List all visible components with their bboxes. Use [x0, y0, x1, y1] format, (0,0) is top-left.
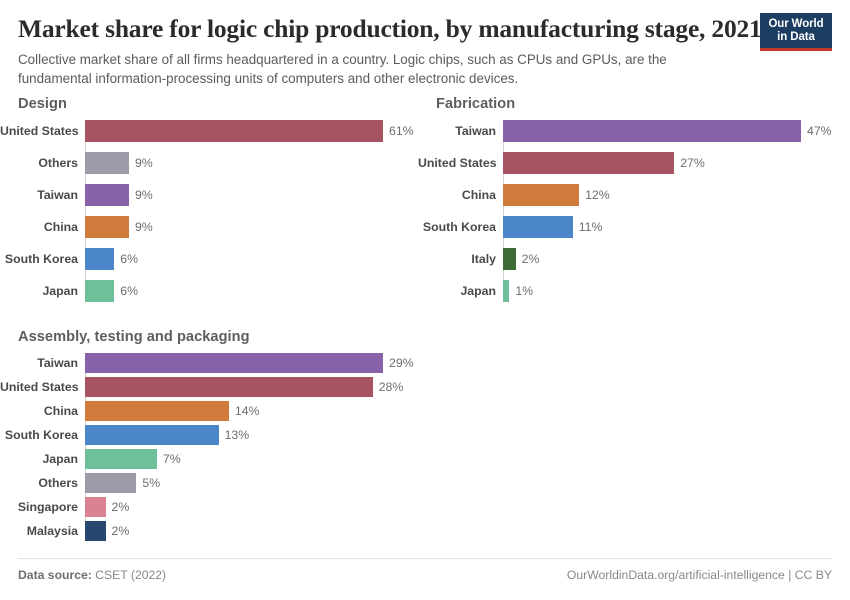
y-axis-line [503, 120, 504, 302]
bar-row: Japan6% [0, 280, 425, 302]
panel-title-assembly-testing-packaging: Assembly, testing and packaging [18, 329, 425, 345]
bar-row-label: Others [0, 476, 85, 490]
bar-row-label: United States [0, 380, 85, 394]
bar[interactable] [85, 248, 114, 270]
bar-value-label: 61% [383, 124, 414, 138]
bar-row-label: South Korea [0, 252, 85, 266]
bar-row-label: South Korea [418, 220, 503, 234]
bar-row: United States28% [0, 377, 425, 397]
bar[interactable] [503, 248, 516, 270]
bar-row: United States27% [418, 152, 843, 174]
bar-value-label: 27% [674, 156, 705, 170]
bar[interactable] [503, 216, 573, 238]
data-source-label: Data source: [18, 568, 92, 582]
bar-row: China9% [0, 216, 425, 238]
bar-value-label: 11% [573, 220, 603, 234]
bar-value-label: 13% [219, 428, 250, 442]
bar[interactable] [85, 280, 114, 302]
bar-value-label: 5% [136, 476, 160, 490]
bar-value-label: 28% [373, 380, 404, 394]
bar-row: South Korea6% [0, 248, 425, 270]
bar-row: South Korea13% [0, 425, 425, 445]
logo-line-1: Our World [768, 18, 823, 30]
bar-row: Taiwan47% [418, 120, 843, 142]
bar-row: Singapore2% [0, 497, 425, 517]
chart-header: Market share for logic chip production, … [18, 14, 758, 88]
bar-value-label: 14% [229, 404, 260, 418]
bar-row-label: United States [418, 156, 503, 170]
bar-row-label: Malaysia [0, 524, 85, 538]
bar-row-label: Japan [0, 284, 85, 298]
bar-row: Taiwan9% [0, 184, 425, 206]
bar-row-label: Others [0, 156, 85, 170]
chart-footer: Data source: CSET (2022) OurWorldinData.… [18, 558, 832, 582]
bar-row-label: Singapore [0, 500, 85, 514]
bar[interactable] [85, 216, 129, 238]
bar-chart-fabrication: Taiwan47%United States27%China12%South K… [418, 120, 843, 302]
bar[interactable] [85, 152, 129, 174]
bar[interactable] [85, 497, 106, 517]
bar-row: Malaysia2% [0, 521, 425, 541]
bar-row: United States61% [0, 120, 425, 142]
bar-rows-design: United States61%Others9%Taiwan9%China9%S… [0, 120, 425, 302]
bar[interactable] [85, 521, 106, 541]
chart-title: Market share for logic chip production, … [18, 14, 758, 43]
bar-chart-assembly-testing-packaging: Taiwan29%United States28%China14%South K… [0, 353, 425, 541]
bar-row: South Korea11% [418, 216, 843, 238]
bar-value-label: 7% [157, 452, 181, 466]
logo-line-2: in Data [777, 31, 815, 43]
data-source: Data source: CSET (2022) [18, 568, 166, 582]
bar-row: Taiwan29% [0, 353, 425, 373]
bar[interactable] [85, 473, 136, 493]
bar-value-label: 6% [114, 252, 138, 266]
bar-row-label: Japan [418, 284, 503, 298]
bar-row-label: China [0, 220, 85, 234]
bar[interactable] [85, 120, 383, 142]
bar[interactable] [85, 353, 383, 373]
bar-value-label: 2% [106, 524, 130, 538]
bar-row-label: Taiwan [418, 124, 503, 138]
our-world-in-data-logo[interactable]: Our World in Data [760, 13, 832, 51]
attribution-link[interactable]: OurWorldinData.org/artificial-intelligen… [567, 568, 832, 582]
bar[interactable] [503, 184, 579, 206]
y-axis-line [85, 120, 86, 302]
bar-value-label: 6% [114, 284, 138, 298]
bar[interactable] [85, 449, 157, 469]
bar-row: China14% [0, 401, 425, 421]
bar-value-label: 12% [579, 188, 610, 202]
bar-chart-design: United States61%Others9%Taiwan9%China9%S… [0, 120, 425, 302]
bar-value-label: 9% [129, 188, 153, 202]
bar-row-label: Japan [0, 452, 85, 466]
panel-title-design: Design [18, 96, 425, 112]
bar[interactable] [85, 425, 219, 445]
bar-row: Others5% [0, 473, 425, 493]
bar-row-label: Taiwan [0, 356, 85, 370]
bar[interactable] [85, 184, 129, 206]
bar-row: Others9% [0, 152, 425, 174]
panel-fabrication: Fabrication Taiwan47%United States27%Chi… [418, 96, 843, 302]
bar-row-label: China [418, 188, 503, 202]
bar-row: China12% [418, 184, 843, 206]
bar-value-label: 9% [129, 156, 153, 170]
bar-row-label: Taiwan [0, 188, 85, 202]
bar-value-label: 47% [801, 124, 832, 138]
bar[interactable] [85, 401, 229, 421]
bar-row-label: United States [0, 124, 85, 138]
bar-row-label: China [0, 404, 85, 418]
bar-value-label: 2% [106, 500, 130, 514]
bar[interactable] [503, 120, 801, 142]
bar-row: Japan7% [0, 449, 425, 469]
bar-row-label: Italy [418, 252, 503, 266]
bar-value-label: 1% [509, 284, 533, 298]
bar-row: Italy2% [418, 248, 843, 270]
bar-rows-assembly-testing-packaging: Taiwan29%United States28%China14%South K… [0, 353, 425, 541]
bar-value-label: 9% [129, 220, 153, 234]
bar[interactable] [503, 152, 674, 174]
chart-subtitle: Collective market share of all firms hea… [18, 50, 730, 88]
panel-title-fabrication: Fabrication [436, 96, 843, 112]
panel-design: Design United States61%Others9%Taiwan9%C… [0, 96, 425, 302]
bar-rows-fabrication: Taiwan47%United States27%China12%South K… [418, 120, 843, 302]
bar-value-label: 29% [383, 356, 414, 370]
data-source-value: CSET (2022) [95, 568, 166, 582]
bar-row: Japan1% [418, 280, 843, 302]
bar-value-label: 2% [516, 252, 540, 266]
panel-assembly-testing-packaging: Assembly, testing and packaging Taiwan29… [0, 329, 425, 545]
bar-row-label: South Korea [0, 428, 85, 442]
bar[interactable] [85, 377, 373, 397]
chart-page: Market share for logic chip production, … [0, 0, 850, 600]
